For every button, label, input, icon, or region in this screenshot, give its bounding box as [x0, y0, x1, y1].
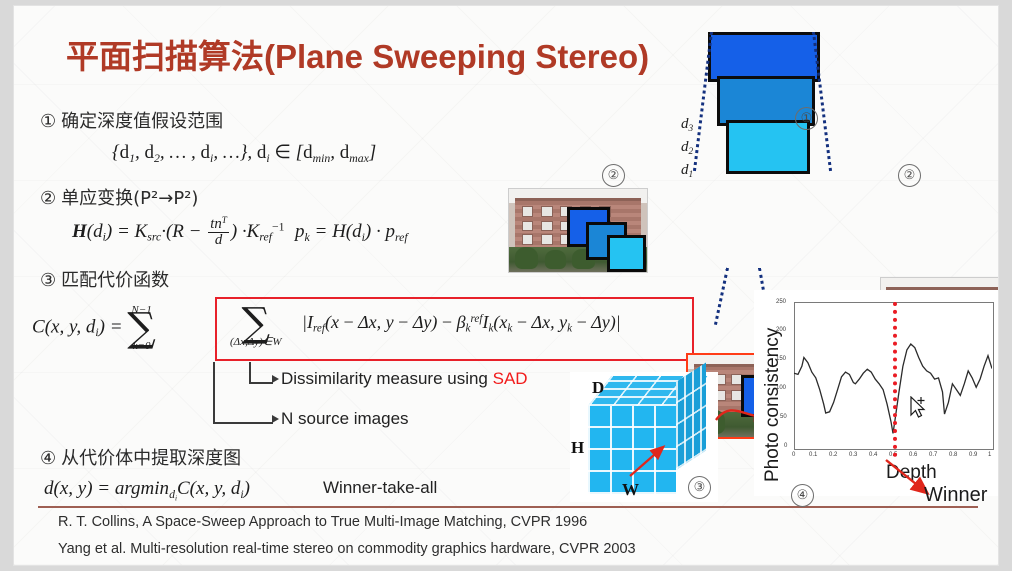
step-1-label: 确定深度值假设范围 — [61, 111, 223, 132]
marker-frustum: ① — [795, 107, 818, 130]
citation-1: R. T. Collins, A Space-Sweep Approach to… — [58, 514, 587, 530]
annotation-n-source-images: N source images — [281, 409, 409, 429]
depth-plane-d1 — [726, 120, 810, 174]
page-title: 平面扫描算法(Plane Sweeping Stereo) — [66, 30, 649, 78]
chart-y-axis-label: Photo consistency — [762, 328, 784, 482]
step-3-heading: ③ 匹配代价函数 — [40, 266, 169, 292]
formula-cost-body: |Iref(x − Δx, y − Δy) − βkrefIk(xk − Δx,… — [302, 312, 621, 335]
formula-cost-inner-sum: ∑(Δx,Δy)∈W — [230, 307, 282, 348]
slide-canvas: 平面扫描算法(Plane Sweeping Stereo) ① 确定深度值假设范… — [14, 6, 998, 565]
step-1-heading: ① 确定深度值假设范围 — [40, 107, 223, 133]
winner-label: Winner — [924, 484, 987, 507]
cost-volume-diagram: D H W ③ — [570, 372, 718, 502]
patch-d1-left — [607, 235, 646, 272]
chart-ytick-150: 150 — [776, 356, 786, 362]
photo-consistency-chart: Photo consistency 250 200 150 100 50 0 0… — [754, 290, 998, 496]
footer-divider — [38, 506, 978, 508]
chart-xtick-0.9: 0.9 — [969, 452, 977, 458]
chart-xtick-0.3: 0.3 — [849, 452, 857, 458]
marker-chart: ④ — [791, 484, 814, 507]
cube-sample-arrow-icon — [626, 442, 670, 480]
mouse-cursor-icon — [909, 396, 933, 422]
marker-source-left: ② — [602, 164, 625, 187]
annotation-dissimilarity-text: Dissimilarity measure using — [281, 369, 493, 388]
step-2-heading: ② 单应变换(P²→P²) — [40, 184, 198, 210]
label-plane-d2: d2 — [681, 139, 693, 157]
formula-point-map: pk = H(di) · pref — [295, 221, 408, 245]
cube-label-depth: D — [592, 378, 604, 398]
annotation-sad-metric: SAD — [493, 369, 528, 388]
step-4-marker: ④ — [40, 448, 56, 469]
step-2-marker: ② — [40, 188, 56, 209]
arrowhead-icon-dissimilarity — [272, 375, 279, 383]
chart-xtick-0.1: 0.1 — [809, 452, 817, 458]
arrowhead-icon-source — [272, 415, 279, 423]
chart-ytick-250: 250 — [776, 299, 786, 305]
step-3-marker: ③ — [40, 270, 56, 291]
step-3-label: 匹配代价函数 — [61, 270, 169, 291]
marker-source-right: ② — [898, 164, 921, 187]
formula-homography: H(di) = Ksrc·(R − tnTd) ·Kref−1 — [72, 216, 285, 249]
depth-plane-d3 — [708, 32, 820, 82]
chart-winner-dotted-line — [893, 302, 897, 457]
depth-plane-frustum — [700, 30, 830, 172]
chart-ytick-0: 0 — [784, 443, 787, 449]
step-4-label: 从代价体中提取深度图 — [61, 448, 241, 469]
cube-label-height: H — [571, 438, 584, 458]
formula-cost-lhs: C(x, y, di) = N−1∑k=0 — [32, 304, 156, 352]
source-image-left — [508, 188, 648, 273]
chart-xtick-1: 1 — [988, 452, 991, 458]
formula-argmin: d(x, y) = argmindiC(x, y, di) — [44, 478, 250, 502]
chart-ytick-100: 100 — [776, 385, 786, 391]
annotation-dissimilarity: Dissimilarity measure using SAD — [281, 369, 528, 389]
chart-ytick-200: 200 — [776, 327, 786, 333]
step-1-marker: ① — [40, 111, 56, 132]
marker-cost-volume: ③ — [688, 476, 711, 499]
label-plane-d1: d1 — [681, 162, 693, 180]
chart-xtick-0.4: 0.4 — [869, 452, 877, 458]
step-4-heading: ④ 从代价体中提取深度图 — [40, 444, 241, 470]
chart-ytick-50: 50 — [780, 414, 787, 420]
cube-label-width: W — [622, 480, 639, 500]
chart-xtick-0.2: 0.2 — [829, 452, 837, 458]
citation-2: Yang et al. Multi-resolution real-time s… — [58, 541, 636, 557]
formula-depth-set: {d1, d2, … , di, …}, di ∈ [dmin, dmax] — [112, 141, 376, 166]
annotation-winner-take-all: Winner-take-all — [323, 478, 437, 498]
step-2-label: 单应变换(P²→P²) — [61, 188, 198, 209]
cube-right-face — [676, 363, 706, 470]
chart-xtick-0: 0 — [792, 452, 795, 458]
chart-xtick-0.8: 0.8 — [949, 452, 957, 458]
label-plane-d3: d3 — [681, 116, 693, 134]
